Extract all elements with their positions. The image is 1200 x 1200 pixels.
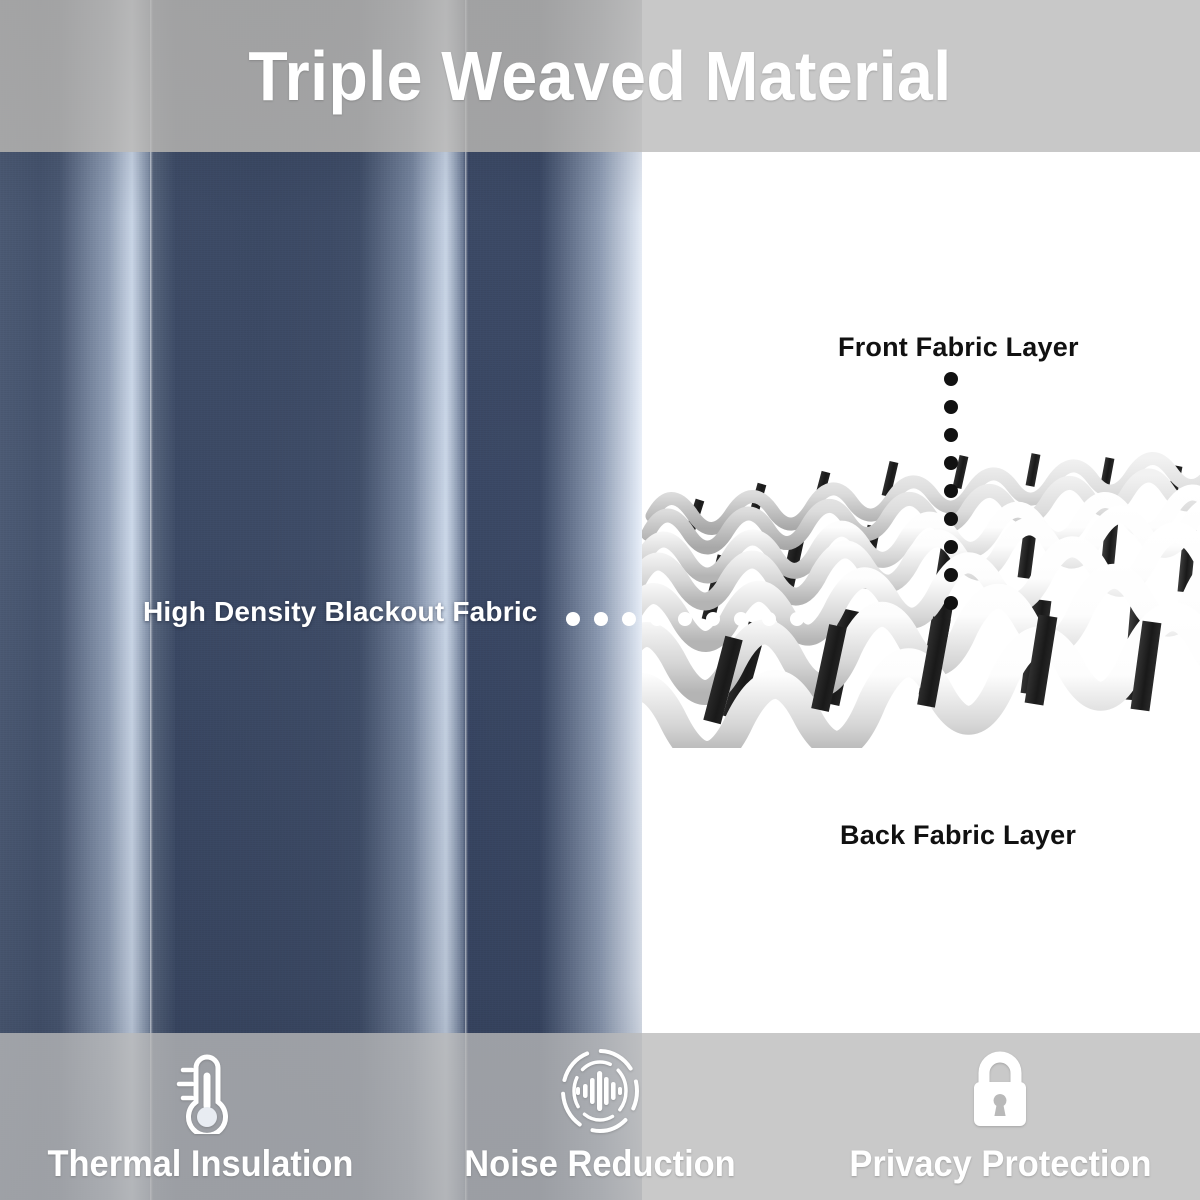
feature-label: Privacy Protection — [849, 1143, 1151, 1185]
front-layer-label: Front Fabric Layer — [838, 332, 1079, 363]
leader-dot — [944, 568, 958, 582]
leader-dot — [944, 484, 958, 498]
leader-dot — [944, 372, 958, 386]
leader-dot — [944, 596, 958, 610]
woven-fabric-illustration — [642, 388, 1200, 748]
feature-label: Noise Reduction — [464, 1143, 735, 1185]
leader-dot — [944, 428, 958, 442]
leader-dot — [594, 612, 608, 626]
leader-dot — [706, 612, 720, 626]
leader-dot — [944, 456, 958, 470]
leader-dot — [622, 612, 636, 626]
leader-dot — [944, 512, 958, 526]
feature-label: Thermal Insulation — [47, 1143, 353, 1185]
sound-wave-icon — [557, 1047, 643, 1135]
product-feature-image: Front Fabric Layer Back Fabric Layer Hig… — [0, 0, 1200, 1200]
padlock-icon — [957, 1047, 1043, 1135]
blackout-fabric-leader-line — [566, 612, 896, 626]
title-banner: Triple Weaved Material — [0, 0, 1200, 152]
blackout-fabric-label: High Density Blackout Fabric — [143, 596, 538, 628]
feature-privacy-protection: Privacy Protection — [800, 1033, 1200, 1200]
feature-bar: Thermal Insulation — [0, 1033, 1200, 1200]
feature-thermal-insulation: Thermal Insulation — [0, 1033, 400, 1200]
leader-dot — [944, 540, 958, 554]
thermometer-icon — [157, 1047, 243, 1135]
back-layer-label: Back Fabric Layer — [840, 820, 1076, 851]
leader-dot — [762, 612, 776, 626]
leader-dot — [790, 612, 804, 626]
leader-dot — [678, 612, 692, 626]
leader-dot — [734, 612, 748, 626]
leader-dot — [650, 612, 664, 626]
weave-diagram — [642, 0, 1200, 1200]
leader-dot — [944, 400, 958, 414]
leader-dot — [566, 612, 580, 626]
feature-noise-reduction: Noise Reduction — [400, 1033, 800, 1200]
page-title: Triple Weaved Material — [48, 0, 1152, 152]
front-layer-leader-line — [944, 372, 958, 622]
